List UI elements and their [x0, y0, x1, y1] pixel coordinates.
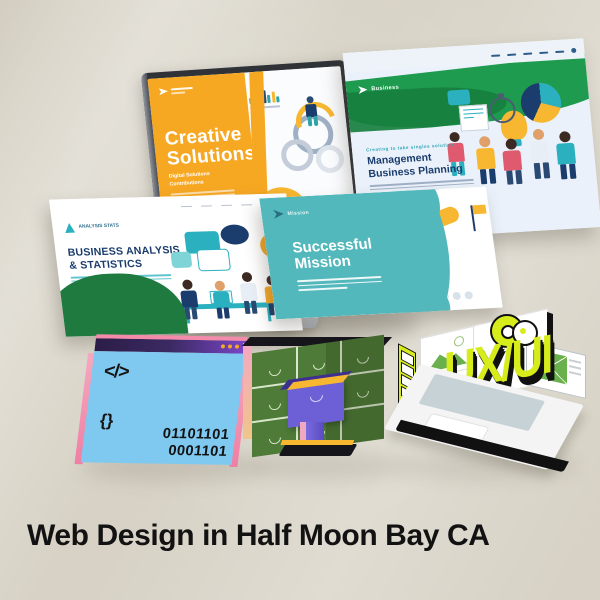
- wireframe-line: [569, 371, 581, 375]
- successful-mission-card: Mission Successful Mission: [259, 187, 503, 320]
- cabinet-base: [279, 444, 358, 456]
- brand-logo-label: Mission: [287, 209, 309, 216]
- wireframe-line: [569, 365, 581, 369]
- filing-cabinet-mockup: [252, 344, 384, 464]
- wireframe-line: [569, 359, 581, 363]
- person-figure: [303, 96, 320, 127]
- nav-item[interactable]: [221, 204, 232, 206]
- teal-card-headline: Successful Mission: [291, 237, 375, 273]
- headline-line-2: Solutions: [166, 144, 256, 170]
- window-control-dot[interactable]: [221, 344, 226, 348]
- brand-logo: ANALYSIS STATS: [64, 222, 120, 233]
- binary-line-1: 01101101: [162, 426, 231, 444]
- brand-logo-icon: [159, 86, 194, 95]
- cabinet-open-drawer[interactable]: [288, 380, 344, 428]
- person-figure: [500, 138, 524, 185]
- code-browser-window-mockup: </> {} 01101101 0001101: [81, 351, 245, 465]
- window-control-dot[interactable]: [235, 345, 240, 349]
- flag-icon: [470, 205, 476, 231]
- arrow-logo-icon: [273, 209, 284, 218]
- uxui-laptop-mockup: UX/UI: [392, 318, 588, 490]
- cabinet-left-edge: [243, 343, 252, 439]
- speech-bubble-icon: [170, 252, 192, 268]
- headline-line-2: & STATISTICS: [69, 258, 143, 272]
- gear-icon: [314, 144, 345, 174]
- cabinet-base-trim: [280, 440, 354, 445]
- nav-item[interactable]: [507, 53, 516, 56]
- speech-bubble-icon: [447, 89, 470, 105]
- window-control-dot[interactable]: [228, 344, 233, 348]
- pagination-dot[interactable]: [464, 291, 473, 299]
- person-figure: [527, 128, 552, 179]
- nav-item[interactable]: [523, 52, 532, 55]
- brand-logo-label: Business: [371, 85, 399, 93]
- code-window-body: </> {} 01101101 0001101: [81, 351, 245, 465]
- user-avatar-icon[interactable]: [571, 48, 576, 53]
- triangle-logo-icon: [64, 223, 75, 233]
- document-graphic: [196, 249, 231, 272]
- headline-line-2: Mission: [294, 253, 352, 273]
- arrow-logo-icon: [358, 86, 368, 94]
- brace-icon: {}: [99, 411, 115, 431]
- page-title: Web Design in Half Moon Bay CA: [27, 519, 489, 553]
- window-controls[interactable]: [221, 344, 240, 348]
- binary-code-text: 01101101 0001101: [160, 426, 231, 461]
- nav-item[interactable]: [201, 205, 212, 207]
- binary-line-2: 0001101: [160, 443, 229, 461]
- pie-chart-graphic: [519, 82, 563, 124]
- document-graphic: [459, 104, 490, 132]
- speech-bubble-icon: [219, 224, 250, 245]
- hero-banner: Creative Solutions Digital Solutions Con…: [0, 0, 600, 600]
- person-figure: [210, 281, 233, 319]
- nav-item[interactable]: [241, 204, 252, 206]
- creative-solutions-headline: Creative Solutions: [164, 124, 256, 170]
- nav-item[interactable]: [539, 51, 548, 54]
- nav-item[interactable]: [555, 50, 564, 53]
- creative-solutions-subhead: Digital Solutions Contributions: [169, 170, 231, 189]
- person-figure: [237, 272, 260, 314]
- nav-menu[interactable]: [491, 48, 577, 58]
- brand-logo-label: ANALYSIS STATS: [78, 224, 119, 231]
- nav-item[interactable]: [491, 54, 500, 57]
- person-figure: [554, 131, 579, 180]
- nav-item[interactable]: [181, 206, 192, 208]
- pagination-dot[interactable]: [452, 292, 461, 300]
- code-tag-icon: </>: [103, 361, 130, 383]
- brand-logo: Mission: [273, 208, 310, 219]
- drawer-handle-icon[interactable]: [310, 395, 323, 403]
